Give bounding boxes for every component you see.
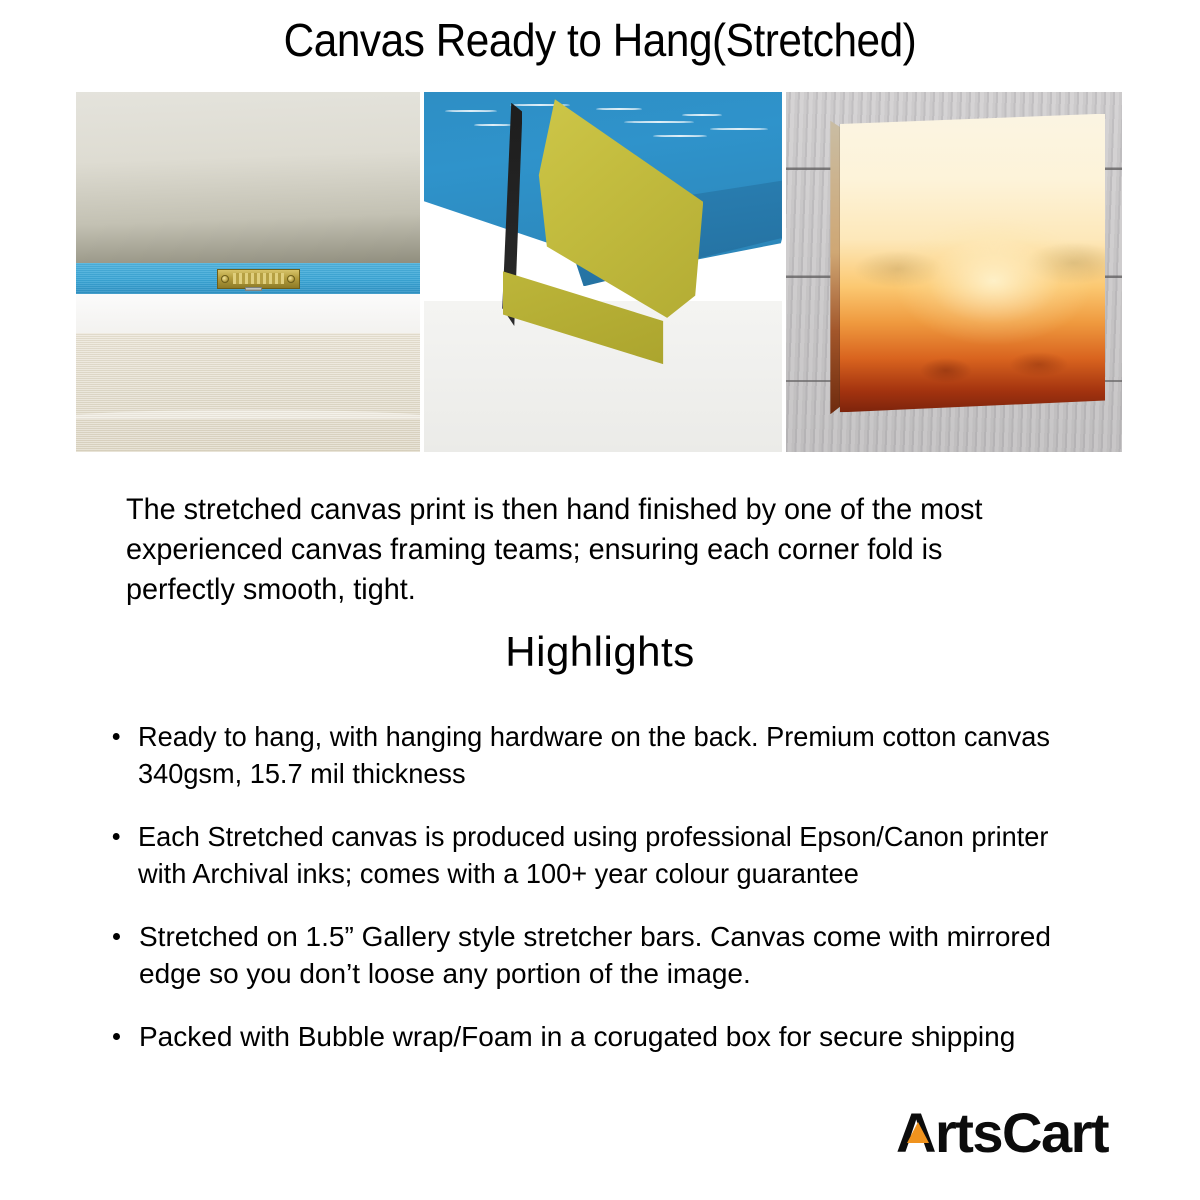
intro-paragraph: The stretched canvas print is then hand …: [126, 490, 1038, 610]
photo3-sunset-canvas-face: [840, 114, 1105, 413]
bullet-dot-icon: [113, 933, 120, 940]
hanger-teeth: [233, 273, 285, 284]
product-image-gallery: [76, 92, 1122, 452]
list-item: Ready to hang, with hanging hardware on …: [106, 718, 1086, 792]
photo1-wall: [76, 92, 420, 265]
gallery-image-canvas-corner-fold: [424, 92, 782, 452]
gallery-image-canvas-back-hanger: [76, 92, 420, 452]
list-item-text: Each Stretched canvas is produced using …: [138, 821, 1048, 889]
bullet-dot-icon: [113, 733, 120, 740]
photo1-cotton-canvas: [76, 333, 420, 452]
list-item: Each Stretched canvas is produced using …: [106, 818, 1086, 892]
list-item-text: Ready to hang, with hanging hardware on …: [138, 721, 1050, 789]
gallery-image-hung-sunset-canvas: [786, 92, 1122, 452]
hanger-screw-left: [221, 275, 229, 283]
bullet-dot-icon: [113, 833, 120, 840]
photo1-white-band: [76, 294, 420, 337]
list-item-text: Packed with Bubble wrap/Foam in a coruga…: [139, 1021, 1015, 1052]
photo1-canvas-curve: [76, 410, 420, 420]
logo-triangle-icon: [907, 1122, 929, 1143]
highlights-heading: Highlights: [0, 628, 1200, 676]
list-item-text: Stretched on 1.5” Gallery style stretche…: [139, 921, 1051, 989]
list-item: Packed with Bubble wrap/Foam in a coruga…: [106, 1018, 1116, 1055]
page-title: Canvas Ready to Hang(Stretched): [48, 16, 1152, 64]
highlights-list: Ready to hang, with hanging hardware on …: [106, 718, 1116, 1081]
sawtooth-hanger-icon: [217, 269, 300, 288]
hanger-tab: [245, 287, 262, 291]
artscart-logo: ArtsCart: [896, 1104, 1108, 1162]
hanger-screw-right: [287, 275, 295, 283]
bullet-dot-icon: [113, 1033, 120, 1040]
list-item: Stretched on 1.5” Gallery style stretche…: [106, 918, 1116, 992]
